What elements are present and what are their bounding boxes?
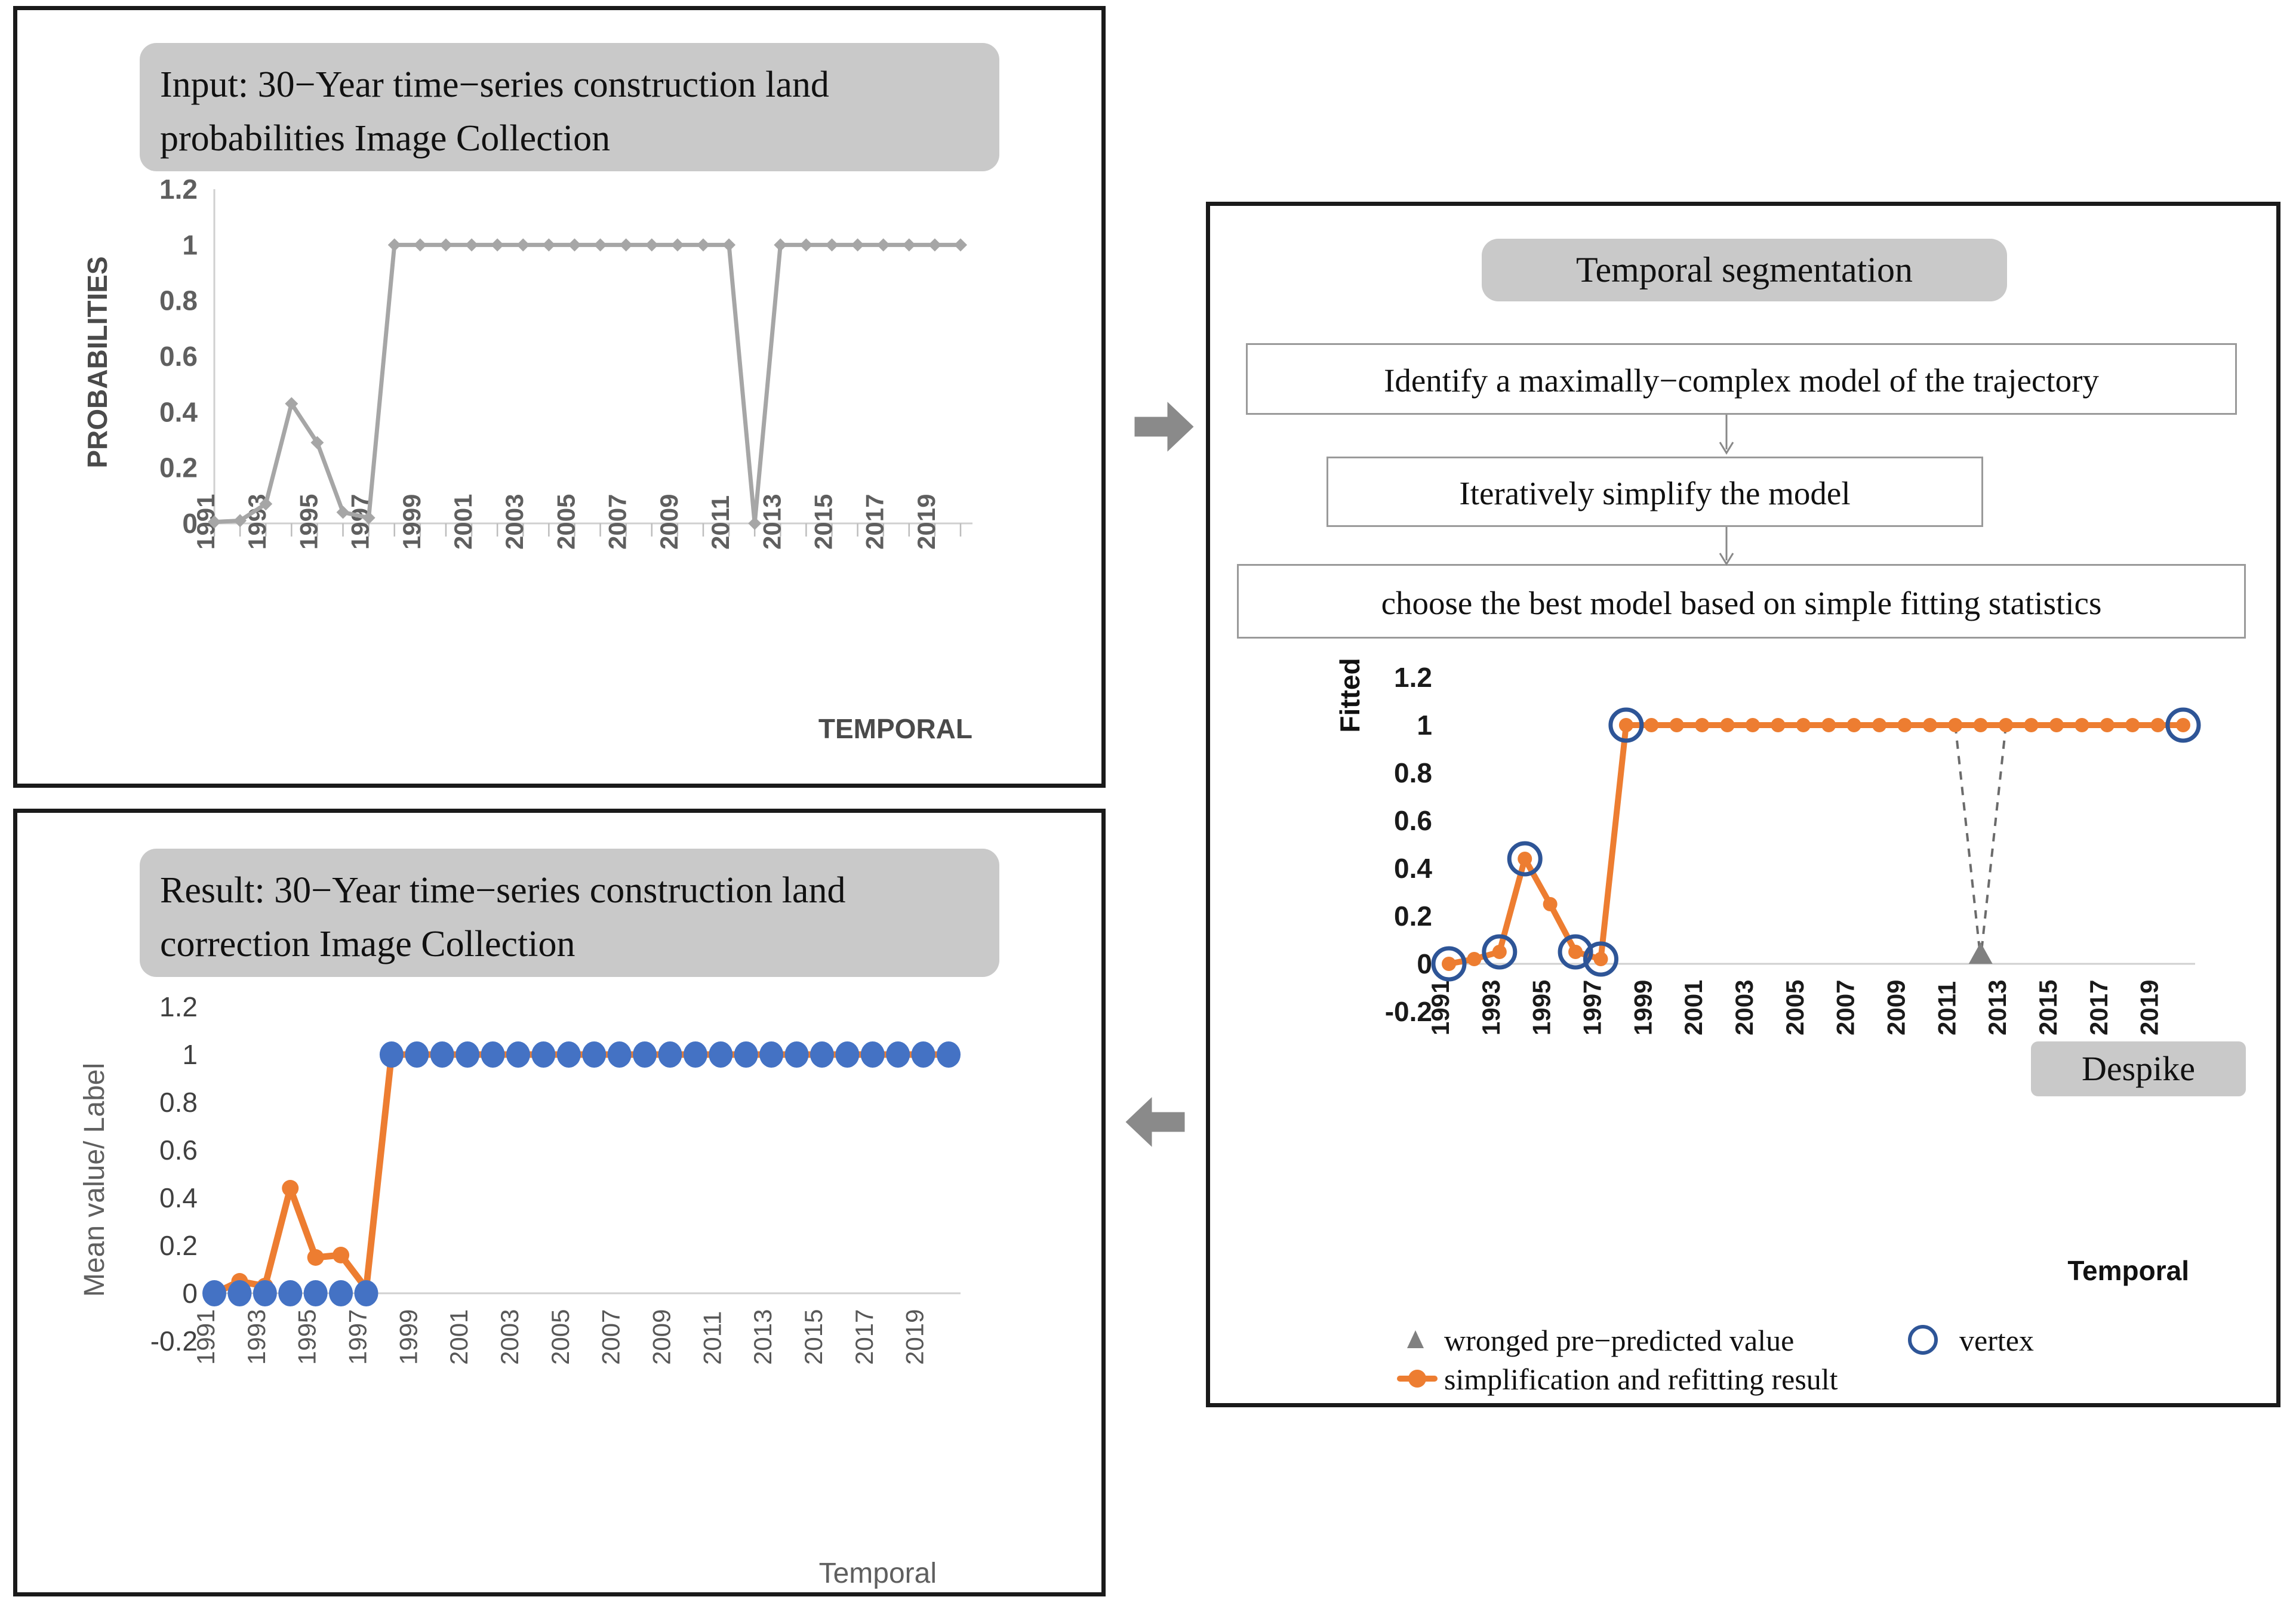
built-up-land-point (608, 1041, 632, 1068)
y-tick-label: 0.8 (159, 285, 198, 316)
x-tick-label: 1997 (343, 1309, 371, 1365)
built-up-land-point (253, 1280, 277, 1306)
x-tick-label: 2005 (546, 1309, 574, 1365)
legend-triangle-icon (1407, 1330, 1424, 1348)
series-point (1872, 718, 1886, 732)
series-point (465, 238, 478, 251)
x-tick-label: 1993 (242, 1309, 270, 1365)
series-point (1948, 718, 1962, 732)
y-tick-label: 1 (1417, 710, 1432, 741)
x-tick-label: 2011 (706, 495, 734, 550)
workflow-arrow-left-icon (1122, 1089, 1188, 1155)
x-tick-label: 1991 (1426, 980, 1454, 1035)
segmentation-caption: Temporal segmentation (1482, 239, 2007, 301)
series-point (1821, 718, 1836, 732)
built-up-land-point (455, 1041, 479, 1068)
x-tick-label: 2017 (861, 494, 889, 550)
y-tick-label: 0.2 (1394, 901, 1432, 932)
workflow-arrow-right-icon (1131, 394, 1197, 460)
legend-item: wronged pre−predicted value (1407, 1324, 1794, 1357)
series-point (414, 238, 427, 251)
x-tick-label: 2011 (698, 1311, 726, 1365)
series-point (825, 238, 838, 251)
x-tick-label: 2015 (809, 494, 837, 550)
built-up-land-point (937, 1041, 961, 1068)
x-tick-label: 2019 (2135, 980, 2163, 1035)
legend-label: vertex (1959, 1324, 2034, 1357)
series-point (2075, 718, 2089, 732)
series-point (620, 238, 633, 251)
x-tick-label: 2003 (500, 494, 528, 550)
input-caption: Input: 30−Year time−series construction … (140, 43, 999, 171)
built-up-land-point (684, 1041, 707, 1068)
x-tick-label: 2001 (1679, 980, 1707, 1035)
legend-marker-icon (1408, 1370, 1426, 1388)
series-point (594, 238, 607, 251)
y-tick-label: 0.4 (159, 1182, 198, 1213)
x-tick-label: 1999 (394, 1309, 422, 1365)
result-caption: Result: 30−Year time−series construction… (140, 849, 999, 977)
result-panel: Result: 30−Year time−series construction… (13, 809, 1106, 1596)
x-axis-title: Temporal (2067, 1255, 2189, 1286)
y-tick-label: 0 (182, 1278, 198, 1309)
series-line-0 (214, 245, 961, 523)
x-tick-label: 2013 (749, 1309, 777, 1365)
series-point (1492, 945, 1507, 959)
y-axis-title: Mean value/ Label (79, 1063, 110, 1297)
built-up-land-point (531, 1041, 555, 1068)
series-point (1923, 718, 1937, 732)
x-tick-label: 2009 (1882, 980, 1910, 1035)
flow-step-2: Iteratively simplify the model (1326, 457, 1983, 527)
result-chart: -0.200.20.40.60.811.21991199319951997199… (17, 983, 1104, 1592)
x-tick-label: 1993 (1477, 980, 1505, 1035)
built-up-land-point (835, 1041, 859, 1068)
x-tick-label: 2013 (1983, 980, 2011, 1035)
built-up-land-point (481, 1041, 505, 1068)
built-up-land-point (785, 1041, 809, 1068)
series-point (1897, 718, 1912, 732)
y-tick-label: 1.2 (159, 991, 198, 1022)
series-point (1518, 852, 1532, 866)
x-tick-label: 2015 (799, 1309, 827, 1365)
x-tick-label: 2003 (495, 1309, 524, 1365)
y-axis-title: Fitted (1334, 658, 1365, 732)
series-point (1467, 952, 1481, 966)
built-up-land-point (227, 1280, 251, 1306)
series-point (799, 238, 812, 251)
series-point (2151, 718, 2165, 732)
x-axis-title: TEMPORAL (818, 713, 972, 744)
built-up-land-point (759, 1041, 783, 1068)
x-tick-label: 1995 (293, 1309, 321, 1365)
x-tick-label: 2001 (445, 1309, 473, 1365)
built-up-land-point (278, 1280, 302, 1306)
x-tick-label: 2003 (1730, 980, 1758, 1035)
built-up-land-point (886, 1041, 910, 1068)
legend-item: vertex (1910, 1324, 2034, 1357)
built-up-land-point (861, 1041, 885, 1068)
series-point (1771, 718, 1785, 732)
built-up-land-point (380, 1041, 404, 1068)
series-point (697, 238, 710, 251)
y-tick-label: 0.2 (159, 1230, 198, 1261)
y-tick-label: 1 (182, 229, 198, 260)
y-tick-label: 0.6 (159, 1135, 198, 1166)
series-point (1721, 718, 1735, 732)
legend-hollow-circle-icon (1910, 1327, 1936, 1353)
series-point (491, 238, 504, 251)
series-point (542, 238, 555, 251)
built-up-land-point (633, 1041, 657, 1068)
series-point (307, 1249, 324, 1266)
series-point (903, 238, 916, 251)
y-axis-title: PROBABILITIES (82, 256, 113, 468)
built-up-land-point (557, 1041, 581, 1068)
built-up-land-point (709, 1041, 732, 1068)
series-line-0 (1449, 725, 2183, 964)
built-up-land-point (405, 1041, 429, 1068)
y-tick-label: 0.4 (159, 396, 198, 427)
x-tick-label: 2001 (449, 494, 477, 550)
series-line-0 (214, 1055, 949, 1293)
series-point (722, 238, 735, 251)
y-tick-label: 0.8 (159, 1087, 198, 1118)
x-tick-label: 1991 (192, 1309, 220, 1365)
y-tick-label: 1.2 (1394, 662, 1432, 693)
fitted-chart: -0.200.20.40.60.811.21991199319951997199… (1210, 659, 2279, 1400)
x-tick-label: 1997 (1578, 980, 1606, 1035)
series-point (1442, 957, 1456, 971)
flow-arrow-1-icon (1715, 415, 1738, 457)
series-point (928, 238, 941, 251)
series-point (516, 238, 530, 251)
y-tick-label: 0.8 (1394, 757, 1432, 788)
legend-label: simplification and refitting result (1444, 1363, 1838, 1396)
x-tick-label: 2019 (912, 494, 940, 550)
y-tick-label: 0.4 (1394, 853, 1432, 884)
x-tick-label: 2011 (1932, 981, 1960, 1035)
y-tick-label: 0 (1417, 948, 1432, 979)
built-up-land-point (506, 1041, 530, 1068)
x-tick-label: 2019 (901, 1309, 929, 1365)
series-point (1593, 952, 1608, 966)
series-point (568, 238, 581, 251)
series-point (645, 238, 658, 251)
x-axis-title: Temporal (819, 1558, 937, 1589)
built-up-land-point (430, 1041, 454, 1068)
x-tick-label: 2005 (1781, 980, 1809, 1035)
y-tick-label: 0.2 (159, 452, 198, 483)
series-point (2024, 718, 2039, 732)
legend-label: wronged pre−predicted value (1444, 1324, 1794, 1357)
series-point (1695, 718, 1709, 732)
series-point (388, 238, 401, 251)
x-tick-label: 2005 (552, 494, 580, 550)
series-point (333, 1247, 349, 1263)
series-point (1568, 945, 1583, 959)
x-tick-label: 1999 (398, 494, 426, 550)
series-point (2176, 718, 2190, 732)
x-tick-label: 2009 (655, 494, 683, 550)
flow-step-1: Identify a maximally−complex model of th… (1246, 343, 2237, 415)
series-point (2100, 718, 2115, 732)
segmentation-panel: Temporal segmentation Identify a maximal… (1206, 202, 2280, 1407)
input-chart: 00.20.40.60.811.219911993199519971999200… (17, 165, 1104, 786)
built-up-land-point (734, 1041, 758, 1068)
series-point (282, 1180, 298, 1197)
series-point (2049, 718, 2064, 732)
series-point (1796, 718, 1811, 732)
built-up-land-point (329, 1280, 353, 1306)
built-up-land-point (912, 1041, 935, 1068)
x-tick-label: 1999 (1629, 980, 1657, 1035)
x-tick-label: 2015 (2034, 980, 2062, 1035)
x-tick-label: 2013 (758, 494, 786, 550)
despike-guide-line (1981, 725, 2006, 959)
y-tick-label: 1.2 (159, 174, 198, 205)
despike-guide-line (1955, 725, 1980, 959)
series-point (851, 238, 864, 251)
input-panel: Input: 30−Year time−series construction … (13, 6, 1106, 788)
series-point (1543, 897, 1558, 911)
series-point (1746, 718, 1760, 732)
built-up-land-point (658, 1041, 682, 1068)
built-up-land-point (582, 1041, 606, 1068)
flow-arrow-2-icon (1715, 527, 1738, 569)
y-tick-label: -0.2 (150, 1326, 198, 1357)
y-tick-label: 1 (182, 1039, 198, 1070)
x-tick-label: 1995 (294, 494, 322, 550)
built-up-land-point (810, 1041, 834, 1068)
x-tick-label: 1995 (1528, 980, 1556, 1035)
built-up-land-point (202, 1280, 226, 1306)
series-point (2125, 718, 2140, 732)
series-point (877, 238, 890, 251)
wronged-pre-predicted-marker (1969, 942, 1993, 964)
series-point (1974, 718, 1988, 732)
series-point (1619, 718, 1633, 732)
y-tick-label: 0.6 (1394, 805, 1432, 836)
x-tick-label: 2007 (597, 1309, 625, 1365)
flow-step-3: choose the best model based on simple fi… (1237, 564, 2246, 639)
series-point (1847, 718, 1861, 732)
series-point (954, 238, 967, 251)
series-point (1670, 718, 1684, 732)
series-point (1644, 718, 1658, 732)
series-point (1999, 718, 2013, 732)
series-point (774, 238, 787, 251)
series-point (439, 238, 453, 251)
y-tick-label: 0.6 (159, 341, 198, 372)
x-tick-label: 2017 (2085, 980, 2113, 1035)
x-tick-label: 2007 (604, 494, 632, 550)
x-tick-label: 2007 (1832, 980, 1860, 1035)
built-up-land-point (304, 1280, 328, 1306)
built-up-land-point (354, 1280, 378, 1306)
legend-item: simplification and refitting result (1400, 1363, 1838, 1396)
x-tick-label: 2017 (850, 1309, 878, 1365)
x-tick-label: 2009 (647, 1309, 675, 1365)
y-tick-label: -0.2 (1385, 996, 1432, 1027)
series-point (671, 238, 684, 251)
